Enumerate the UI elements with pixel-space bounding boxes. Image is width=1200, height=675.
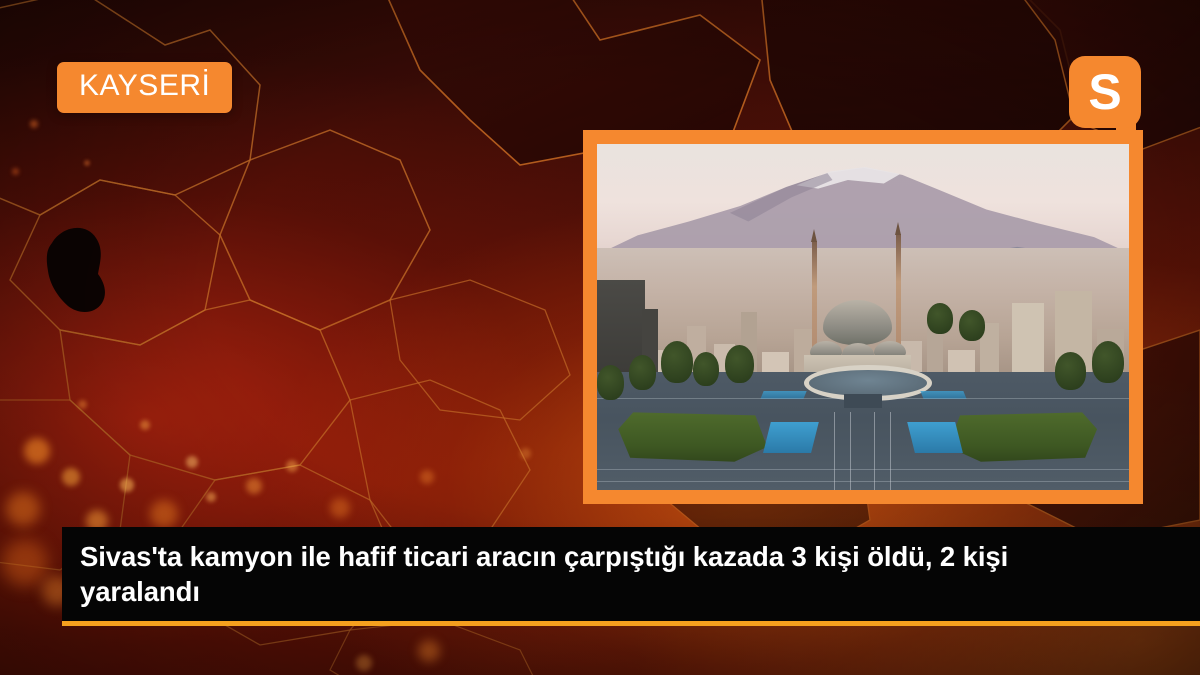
headline-bar: Sivas'ta kamyon ile hafif ticari aracın … [62, 527, 1200, 626]
fountain-right [907, 422, 962, 453]
sondakika-logo[interactable]: S [1069, 56, 1141, 128]
photo-frame [583, 130, 1143, 504]
news-photo [597, 144, 1129, 490]
news-card: KAYSERİ S [0, 0, 1200, 675]
logo-letter: S [1069, 56, 1141, 128]
lawn-left [618, 412, 767, 461]
lawn-right [948, 412, 1097, 461]
city-badge: KAYSERİ [57, 62, 232, 113]
headline-text: Sivas'ta kamyon ile hafif ticari aracın … [62, 539, 1110, 609]
fountain-left [763, 422, 818, 453]
photo-square [597, 372, 1129, 490]
underpass-entrance [844, 394, 881, 408]
